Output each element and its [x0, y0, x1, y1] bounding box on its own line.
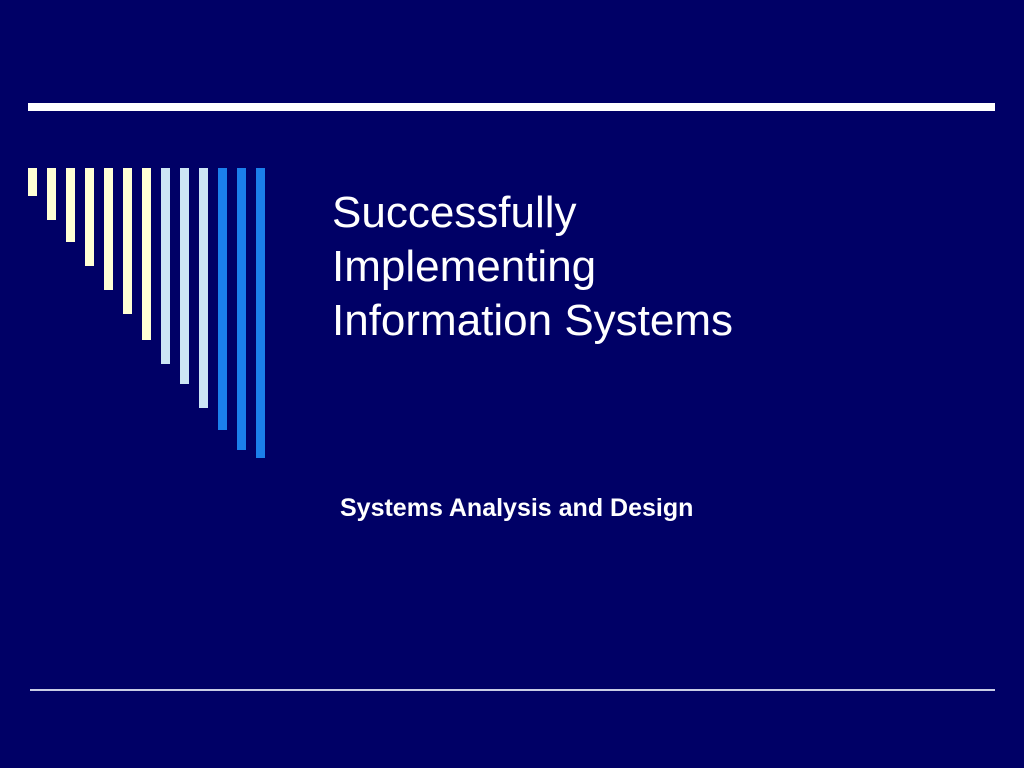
deco-bar [142, 168, 151, 340]
slide-title: Successfully Implementing Information Sy… [332, 186, 972, 348]
bottom-divider-rule [30, 689, 995, 691]
title-line-2: Implementing [332, 240, 972, 294]
deco-bar [218, 168, 227, 430]
deco-bar [85, 168, 94, 266]
deco-bar [28, 168, 37, 196]
deco-bar [256, 168, 265, 458]
deco-bar [161, 168, 170, 364]
deco-bar [180, 168, 189, 384]
descending-bars-graphic [28, 168, 288, 458]
deco-bar [199, 168, 208, 408]
deco-bar [104, 168, 113, 290]
deco-bar [47, 168, 56, 220]
slide-subtitle: Systems Analysis and Design [340, 492, 693, 524]
deco-bar [123, 168, 132, 314]
top-divider-rule [28, 103, 995, 111]
deco-bar [66, 168, 75, 242]
title-line-1: Successfully [332, 186, 972, 240]
title-line-3: Information Systems [332, 294, 972, 348]
deco-bar [237, 168, 246, 450]
presentation-slide: Successfully Implementing Information Sy… [0, 0, 1024, 768]
